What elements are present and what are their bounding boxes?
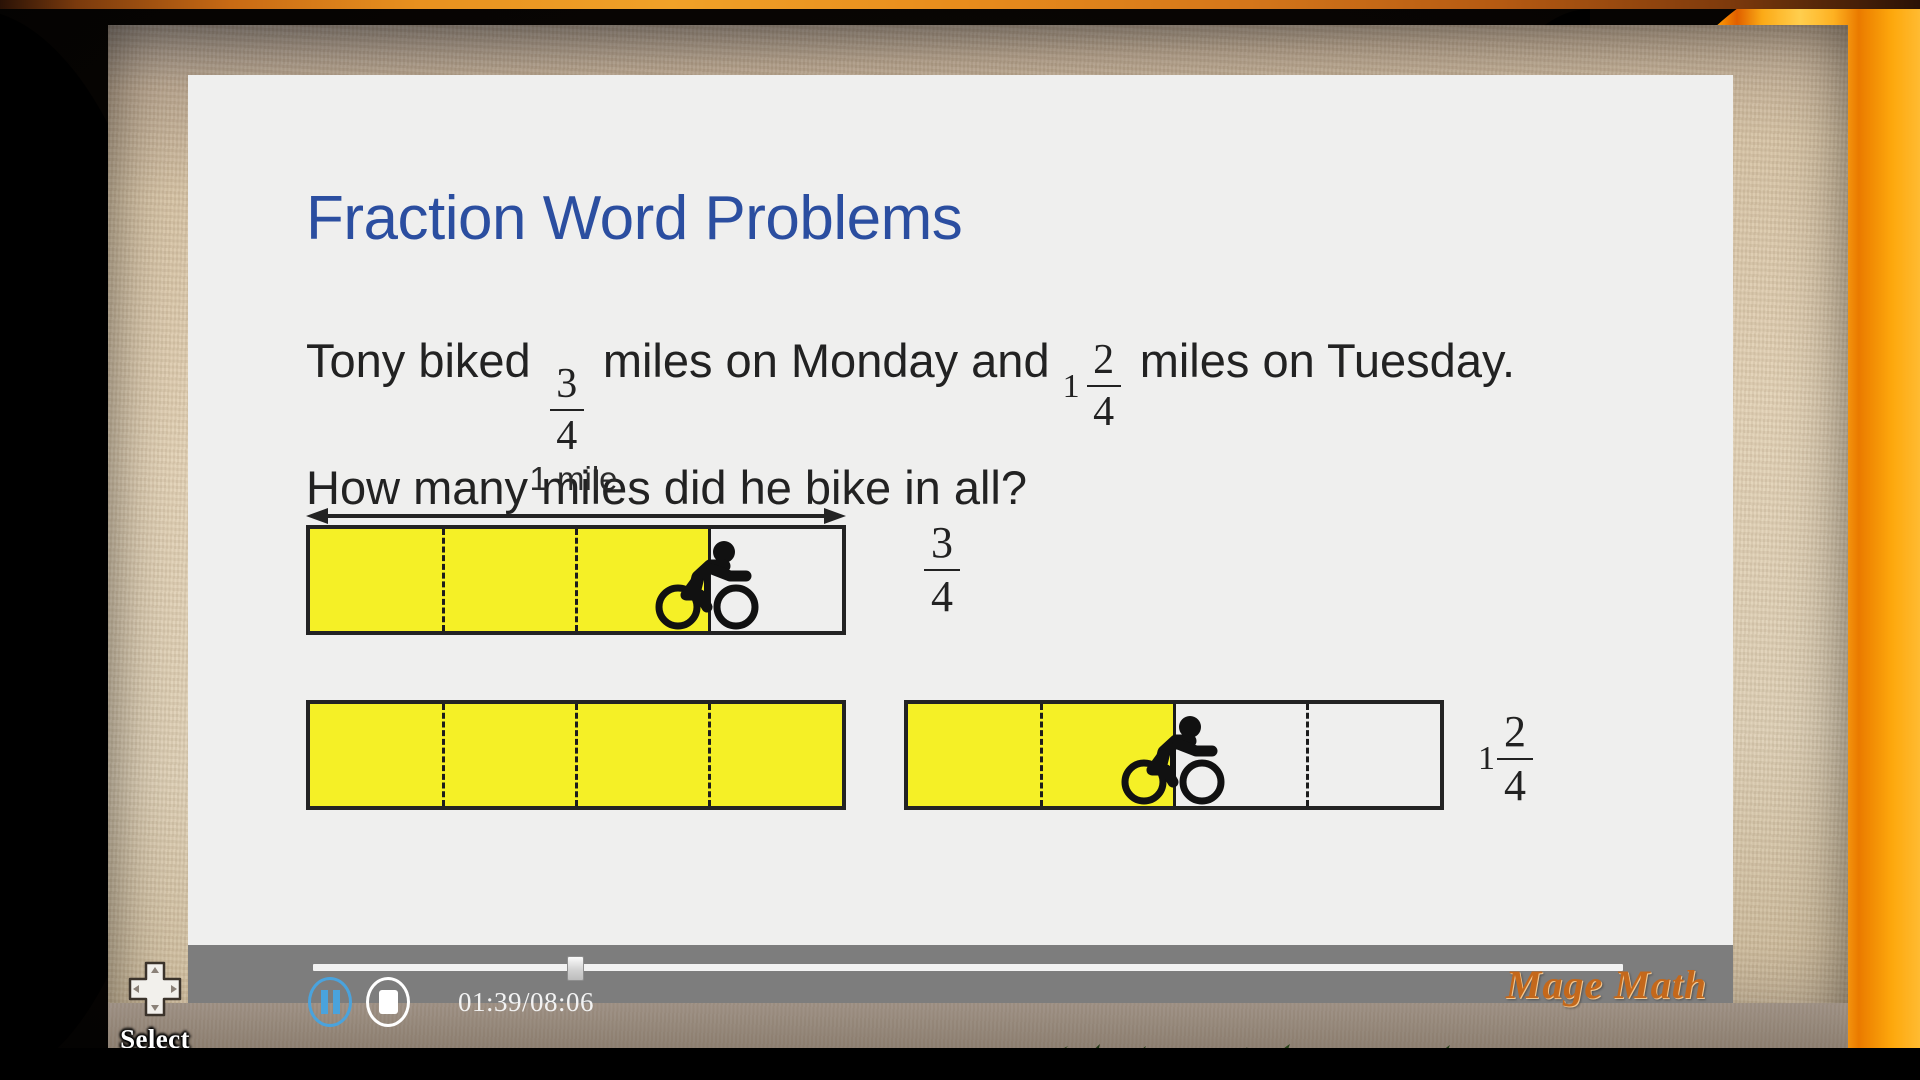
tape-label-denominator: 4 <box>1504 763 1526 808</box>
lesson-slide: Fraction Word Problems Tony biked 3 4 mi… <box>188 75 1733 945</box>
mixed-number-one-two-fourths: 1 2 4 <box>1063 339 1127 433</box>
fraction-denominator: 4 <box>556 414 577 457</box>
tape-cell <box>310 529 443 631</box>
media-player-bar: 01:39/08:06 Mage Math <box>188 945 1733 1003</box>
tape-label-numerator: 2 <box>1504 710 1526 755</box>
tape-diagram-three-fourths <box>306 525 846 635</box>
problem-text-a: Tony biked <box>306 334 531 387</box>
problem-text-b: miles on Monday and <box>603 334 1050 387</box>
tape-label-bar <box>1497 758 1533 760</box>
top-orange-rim <box>0 0 1920 9</box>
screen: Fraction Word Problems Tony biked 3 4 mi… <box>0 0 1920 1080</box>
fraction-bar <box>550 409 584 411</box>
page-title: Fraction Word Problems <box>306 183 962 254</box>
dpad-icon <box>124 960 186 1018</box>
scale-label-one-mile: 1 mile <box>306 460 841 498</box>
tape-label-denominator: 4 <box>931 574 953 619</box>
problem-line-1: Tony biked 3 4 miles on Monday and 1 2 4… <box>306 330 1706 457</box>
tape-label-one-two-fourths: 1 2 4 <box>1478 710 1539 808</box>
brand-logo: Mage Math <box>1506 961 1707 1008</box>
tape-cell <box>1041 704 1174 806</box>
tape-row-monday: 3 4 <box>306 525 846 635</box>
stage-floor <box>0 1048 1920 1080</box>
mixed-fraction-bar <box>1087 385 1121 387</box>
mixed-denominator: 4 <box>1093 390 1114 433</box>
stop-button[interactable] <box>366 977 410 1027</box>
tape-label-three-fourths: 3 4 <box>918 521 966 619</box>
fraction-numerator: 3 <box>556 363 577 406</box>
tape-cell <box>576 704 709 806</box>
tape-cell <box>443 704 576 806</box>
tape-cell <box>443 529 576 631</box>
double-arrow-icon <box>306 507 846 525</box>
problem-text-c: miles on Tuesday. <box>1140 334 1515 387</box>
mixed-numerator: 2 <box>1093 339 1114 382</box>
tape-cell <box>1174 704 1307 806</box>
tape-row-tuesday: 1 2 4 <box>306 700 846 810</box>
tape-diagram-whole <box>306 700 846 810</box>
fraction-three-fourths: 3 4 <box>550 363 584 457</box>
stop-icon <box>379 990 398 1014</box>
tape-cell <box>310 704 443 806</box>
tape-label-bar <box>924 569 960 571</box>
tape-cell <box>709 704 842 806</box>
tape-diagram-two-fourths <box>904 700 1444 810</box>
tape-cell <box>1307 704 1440 806</box>
tape-cell <box>908 704 1041 806</box>
select-control[interactable]: Select <box>95 960 215 1055</box>
tape-label-numerator: 3 <box>931 521 953 566</box>
tape-cell <box>576 529 709 631</box>
mixed-whole-part: 1 <box>1063 364 1080 409</box>
seek-bar[interactable] <box>313 964 1623 971</box>
pause-icon <box>321 990 340 1014</box>
mixed-fraction-part: 2 4 <box>1087 339 1121 433</box>
tape-cell <box>709 529 842 631</box>
pause-button[interactable] <box>308 977 352 1027</box>
transport-controls: 01:39/08:06 <box>308 977 594 1027</box>
timecode-display: 01:39/08:06 <box>458 987 594 1018</box>
tape-label-whole: 1 <box>1478 740 1495 778</box>
